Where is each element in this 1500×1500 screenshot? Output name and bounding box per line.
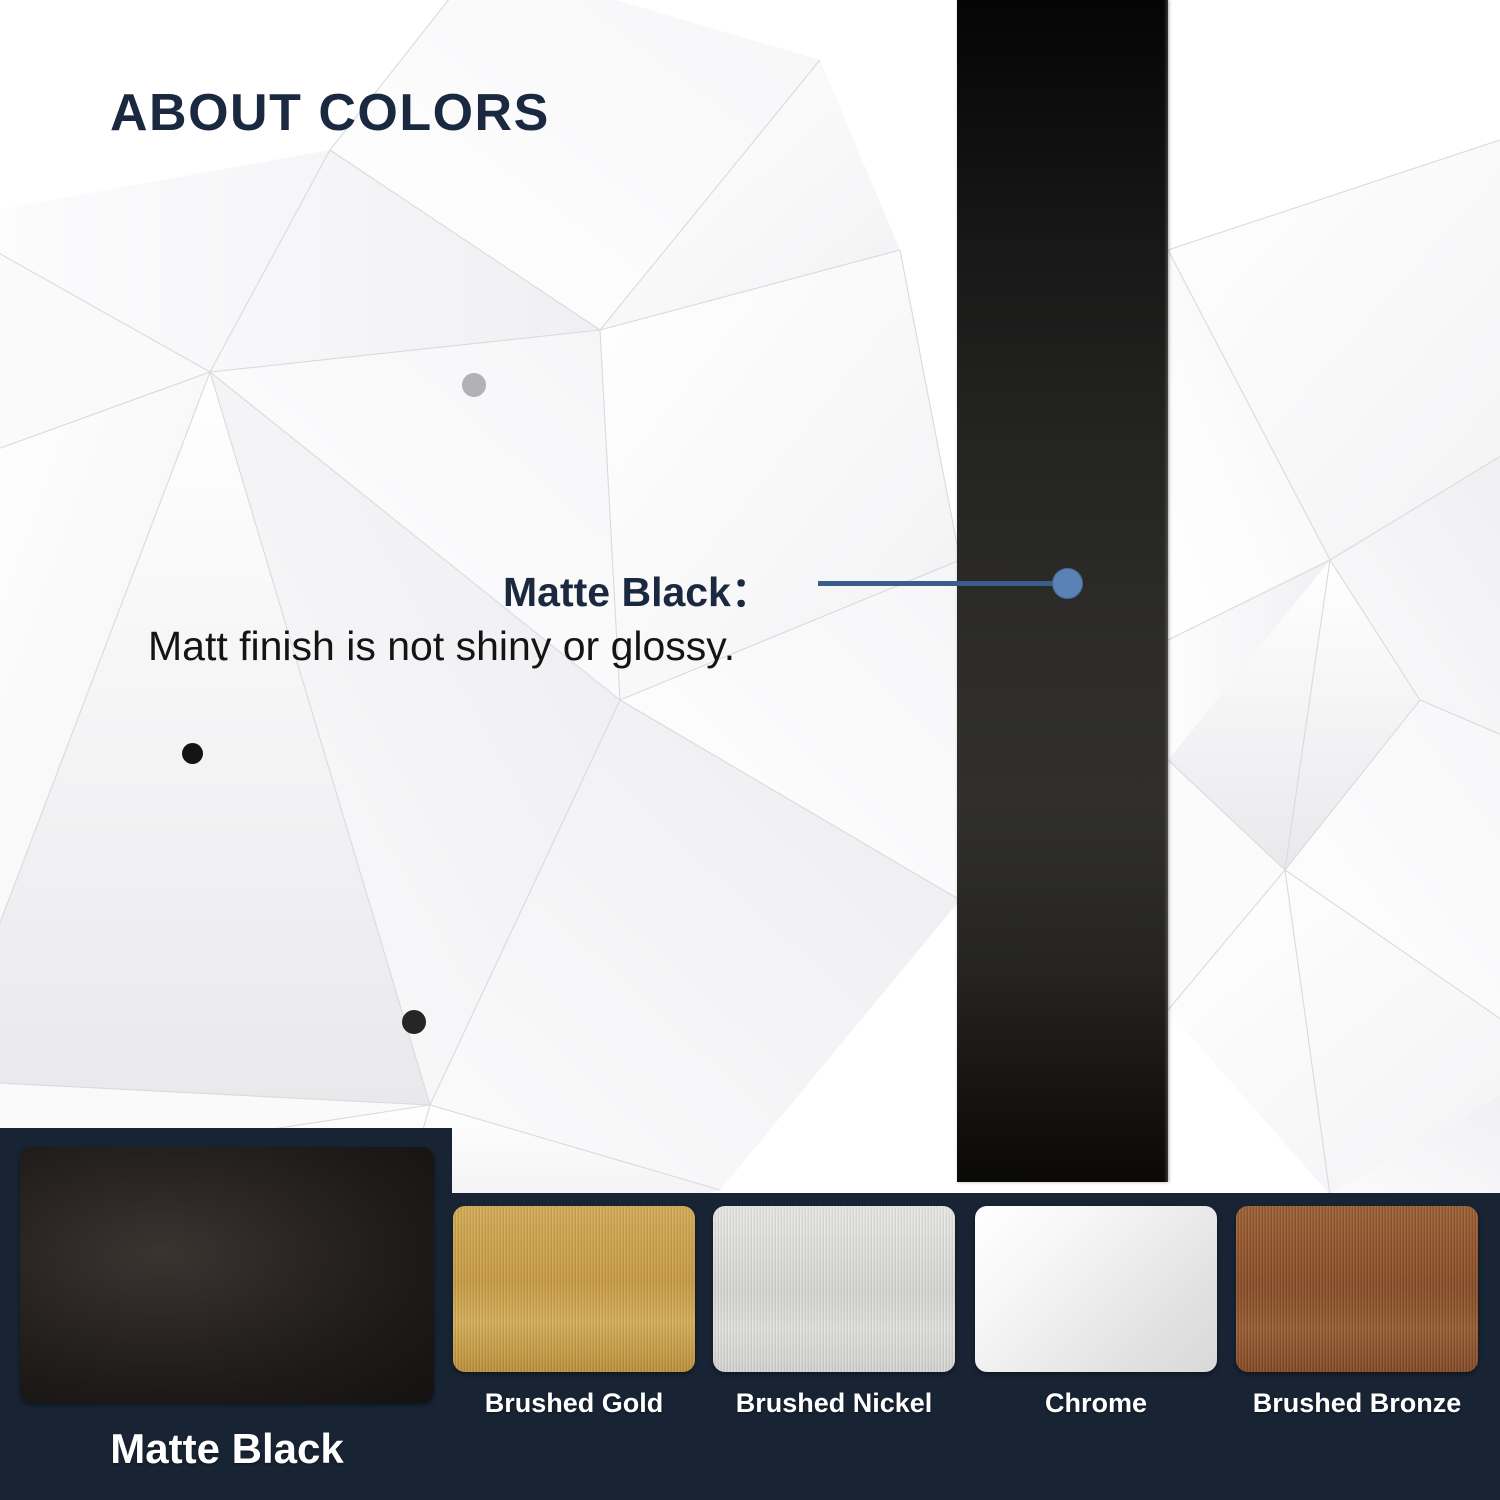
swatch-option-brushed-gold[interactable]: Brushed Gold: [453, 1206, 695, 1419]
swatch-label-brushed-nickel: Brushed Nickel: [713, 1388, 955, 1419]
swatch-option-matte-black[interactable]: Matte Black: [20, 1147, 434, 1473]
infographic-page: ABOUT COLORS Matte Black： Matt finish is…: [0, 0, 1500, 1500]
black-dot-2: [402, 1010, 426, 1034]
callout-endpoint-dot: [1052, 568, 1083, 599]
swatch-label-matte-black: Matte Black: [20, 1425, 434, 1473]
swatch-label-brushed-gold: Brushed Gold: [453, 1388, 695, 1419]
callout-title: Matte Black：: [503, 558, 772, 618]
swatch-label-brushed-bronze: Brushed Bronze: [1236, 1388, 1478, 1419]
swatch-option-brushed-nickel[interactable]: Brushed Nickel: [713, 1206, 955, 1419]
gray-dot: [462, 373, 486, 397]
page-title: ABOUT COLORS: [110, 83, 550, 143]
callout-leader-line: [818, 581, 1064, 586]
swatch-tile-brushed-bronze[interactable]: [1236, 1206, 1478, 1372]
callout-description: Matt finish is not shiny or glossy.: [148, 623, 735, 670]
swatch-option-brushed-bronze[interactable]: Brushed Bronze: [1236, 1206, 1478, 1419]
swatch-tile-brushed-nickel[interactable]: [713, 1206, 955, 1372]
swatch-option-chrome[interactable]: Chrome: [975, 1206, 1217, 1419]
swatch-tile-chrome[interactable]: [975, 1206, 1217, 1372]
swatch-tile-brushed-gold[interactable]: [453, 1206, 695, 1372]
swatch-tile-matte-black[interactable]: [20, 1147, 434, 1403]
black-dot-1: [182, 743, 203, 764]
swatch-label-chrome: Chrome: [975, 1388, 1217, 1419]
